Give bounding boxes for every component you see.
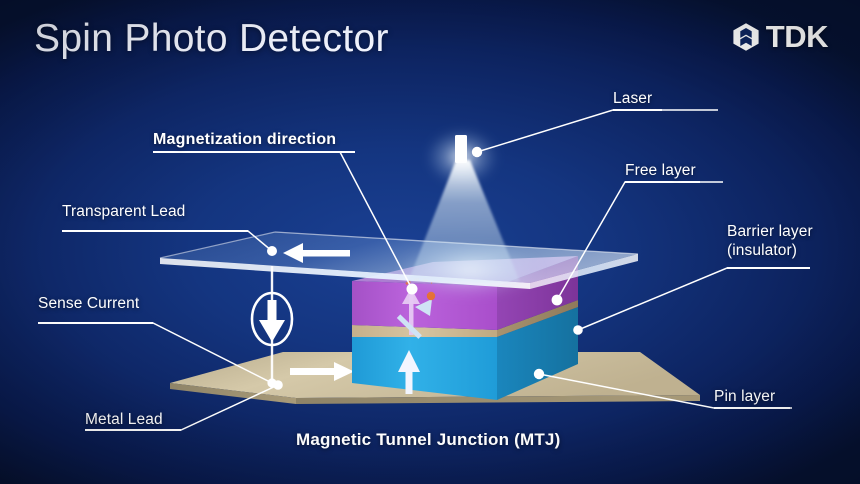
sense-current-arrow-down-icon [259, 300, 285, 342]
spin-photo-detector-slide: Spin Photo Detector TDK Magnetization di… [0, 0, 860, 484]
label-barrier-layer-line1: Barrier layer [727, 222, 813, 241]
label-transparent-lead: Transparent Lead [62, 202, 185, 221]
leader-laser [477, 110, 718, 152]
tdk-logo: TDK [731, 22, 828, 52]
dot-free-layer [552, 295, 563, 306]
dot-laser [472, 147, 482, 157]
label-sense-current: Sense Current [38, 294, 139, 313]
tdk-wordmark: TDK [766, 22, 828, 52]
dot-pin-layer [534, 369, 544, 379]
dot-transparent-lead [267, 246, 277, 256]
dot-magnetization-direction [407, 284, 418, 295]
label-free-layer: Free layer [625, 161, 696, 180]
dot-metal-lead [273, 380, 283, 390]
label-barrier-layer: Barrier layer (insulator) [727, 222, 813, 260]
diagram-caption: Magnetic Tunnel Junction (MTJ) [296, 430, 560, 450]
label-metal-lead: Metal Lead [85, 410, 163, 429]
dot-barrier-layer [573, 325, 583, 335]
label-laser: Laser [613, 89, 652, 108]
laser-source [398, 129, 542, 298]
leader-free-layer [557, 182, 723, 300]
label-barrier-layer-line2: (insulator) [727, 241, 813, 260]
leader-barrier-layer [578, 268, 807, 330]
label-pin-layer: Pin layer [714, 387, 775, 406]
tdk-diamond-icon [731, 22, 761, 52]
page-title: Spin Photo Detector [34, 17, 389, 61]
laser-beam-cone [408, 160, 520, 282]
label-magnetization-direction: Magnetization direction [153, 130, 336, 149]
